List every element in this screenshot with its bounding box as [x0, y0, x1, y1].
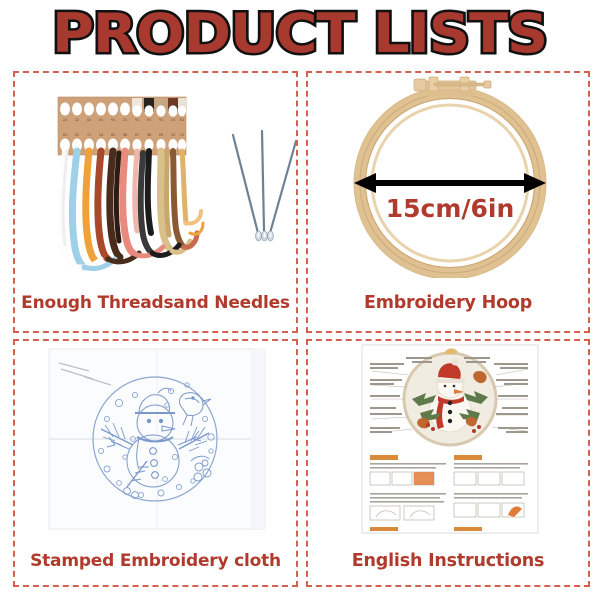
panel-threads-caption: Enough Threadsand Needles	[15, 293, 296, 313]
svg-text:08: 08	[147, 133, 151, 137]
svg-text:10: 10	[171, 133, 175, 137]
stamped-cloth-image	[15, 341, 296, 536]
panel-stamped-cloth: Stamped Embroidery cloth	[13, 339, 298, 587]
instruction-sheet-image	[308, 341, 588, 536]
panel-embroidery-hoop: 15cm/6in Embroidery Hoop	[306, 71, 590, 333]
hoop-size-label: 15cm/6in	[386, 194, 515, 223]
panel-instructions-caption: English Instructions	[308, 551, 588, 571]
page-title-banner: PRODUCT LISTS	[0, 0, 600, 68]
svg-text:09: 09	[159, 133, 163, 137]
svg-text:91: 91	[111, 118, 115, 122]
svg-text:14: 14	[99, 133, 103, 137]
svg-text:05: 05	[111, 133, 115, 137]
embroidery-floss-strands	[61, 151, 203, 269]
svg-text:11: 11	[180, 133, 184, 137]
svg-text:D1: D1	[180, 118, 185, 122]
threads-and-needles-image: 221202 019121 919191 13D1 010271 140506 …	[15, 73, 296, 278]
svg-text:02: 02	[75, 133, 79, 137]
fabric-sheet	[49, 349, 265, 529]
hoop-dimension-arrow	[354, 173, 546, 193]
svg-text:91: 91	[159, 118, 163, 122]
svg-text:01: 01	[99, 118, 103, 122]
svg-text:91: 91	[135, 118, 139, 122]
page-title: PRODUCT LISTS	[52, 7, 547, 61]
svg-text:22: 22	[63, 118, 67, 122]
svg-text:12: 12	[75, 118, 79, 122]
svg-text:06: 06	[123, 133, 127, 137]
panel-cloth-caption: Stamped Embroidery cloth	[15, 551, 296, 571]
embroidery-needles	[233, 131, 296, 241]
svg-text:02: 02	[87, 118, 91, 122]
svg-text:21: 21	[123, 118, 127, 122]
panel-hoop-caption: Embroidery Hoop	[308, 293, 588, 313]
svg-text:91: 91	[147, 118, 151, 122]
svg-text:07: 07	[135, 133, 139, 137]
thread-organizer-card: 221202 019121 919191 13D1 010271 140506 …	[58, 97, 186, 155]
svg-text:71: 71	[87, 133, 91, 137]
product-list-infographic: PRODUCT LISTS	[0, 0, 600, 600]
embroidery-hoop-image: 15cm/6in	[308, 73, 588, 278]
svg-text:01: 01	[63, 133, 67, 137]
svg-text:13: 13	[171, 118, 175, 122]
panel-threads-and-needles: 221202 019121 919191 13D1 010271 140506 …	[13, 71, 298, 333]
panel-english-instructions: English Instructions	[306, 339, 590, 587]
